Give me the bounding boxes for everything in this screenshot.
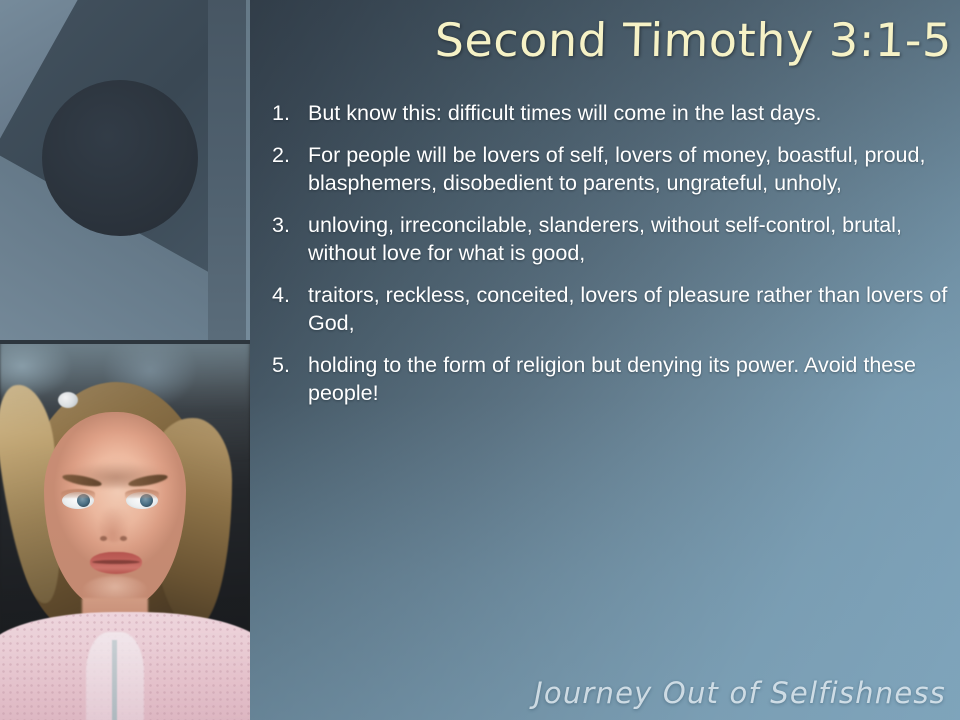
presentation-slide: Second Timothy 3:1-5 1. But know this: d… — [0, 0, 960, 720]
photo-tone-wash — [0, 340, 250, 720]
list-item-text: For people will be lovers of self, lover… — [308, 142, 954, 198]
list-item: 1. But know this: difficult times will c… — [264, 100, 954, 128]
list-item-text: traitors, reckless, conceited, lovers of… — [308, 282, 954, 338]
list-item: 2. For people will be lovers of self, lo… — [264, 142, 954, 198]
slide-content-area: Second Timothy 3:1-5 1. But know this: d… — [250, 0, 960, 720]
list-item-text: holding to the form of religion but deny… — [308, 352, 954, 408]
list-item: 4. traitors, reckless, conceited, lovers… — [264, 282, 954, 338]
left-abstract-graphic — [0, 0, 250, 340]
list-item-number: 1. — [264, 100, 308, 128]
circle-shape-icon — [42, 80, 198, 236]
pouting-young-girl-photo — [0, 340, 250, 720]
list-item-text: unloving, irreconcilable, slanderers, wi… — [308, 212, 954, 268]
list-item-number: 3. — [264, 212, 308, 240]
vertical-accent-strip — [208, 0, 250, 340]
left-decorative-column — [0, 0, 250, 720]
list-item: 5. holding to the form of religion but d… — [264, 352, 954, 408]
list-item-number: 4. — [264, 282, 308, 310]
list-item-number: 5. — [264, 352, 308, 380]
list-item-number: 2. — [264, 142, 308, 170]
page-title: Second Timothy 3:1-5 — [271, 16, 952, 65]
list-item-text: But know this: difficult times will come… — [308, 100, 954, 128]
scripture-numbered-list: 1. But know this: difficult times will c… — [264, 100, 954, 421]
series-brand-footer: Journey Out of Selfishness — [534, 676, 946, 710]
list-item: 3. unloving, irreconcilable, slanderers,… — [264, 212, 954, 268]
